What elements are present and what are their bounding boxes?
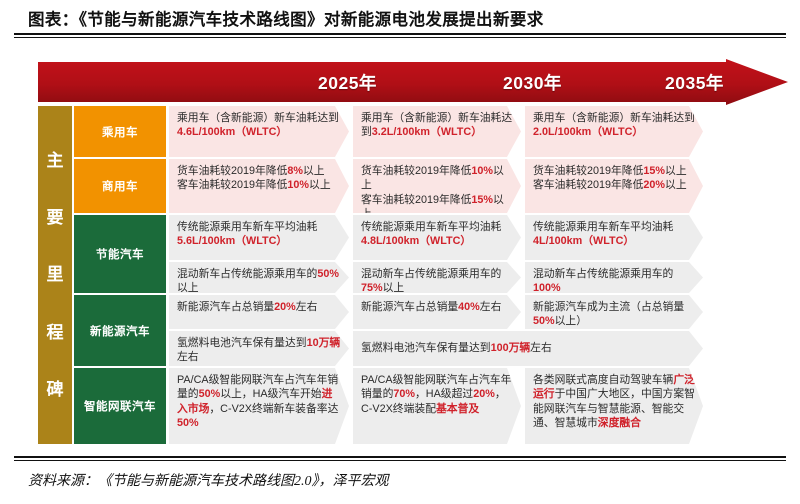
- category-passenger-vehicle: 乘用车: [74, 106, 166, 157]
- timeline-year-2035: 2035年: [665, 70, 724, 95]
- cell-2035-passenger-fuel: 乘用车（含新能源）新车油耗达到2.0L/100km（WLTC）: [525, 106, 703, 157]
- timeline: 2025年 2030年 2035年: [38, 59, 788, 105]
- content-grid: 乘用车（含新能源）新车油耗达到4.6L/100km（WLTC） 乘用车（含新能源…: [169, 106, 788, 444]
- cell-2035-hybrid-share: 混动新车占传统能源乘用车的100%: [525, 262, 703, 293]
- footer-divider-thin: [14, 460, 786, 461]
- cell-2035-icv: 各类网联式高度自动驾驶车辆广泛运行于中国广大地区，中国方案智能网联汽车与智慧能源…: [525, 368, 703, 444]
- vertical-label-char-2: 里: [47, 266, 64, 283]
- category-new-energy-vehicle: 新能源汽车: [74, 295, 166, 366]
- cell-2025-nev-share: 新能源汽车占总销量20%左右: [169, 295, 349, 329]
- category-commercial-vehicle: 商用车: [74, 159, 166, 213]
- category-column: 乘用车 商用车 节能汽车 新能源汽车 智能网联汽车: [74, 106, 166, 444]
- source-note: 资料来源：《节能与新能源汽车技术路线图2.0》，泽平宏观: [28, 470, 389, 490]
- cell-2030-nev-share: 新能源汽车占总销量40%左右: [353, 295, 521, 329]
- vertical-label-char-4: 碑: [47, 381, 64, 398]
- vertical-label-char-1: 要: [47, 209, 64, 226]
- vertical-label-char-0: 主: [47, 152, 64, 169]
- title-area: 图表：《节能与新能源汽车技术路线图》对新能源电池发展提出新要求: [0, 0, 800, 44]
- cell-2030-passenger-fuel: 乘用车（含新能源）新车油耗达到3.2L/100km（WLTC）: [353, 106, 521, 157]
- cell-2025-icv: PA/CA级智能网联汽车占汽车年销量的50%以上，HA级汽车开始进入市场，C-V…: [169, 368, 349, 444]
- cell-2030-hybrid-share: 混动新车占传统能源乘用车的75%以上: [353, 262, 521, 293]
- page-title: 图表：《节能与新能源汽车技术路线图》对新能源电池发展提出新要求: [28, 6, 544, 30]
- cell-2030-conventional-avg-fuel: 传统能源乘用车新车平均油耗4.8L/100km（WLTC）: [353, 215, 521, 260]
- title-divider-thin: [14, 37, 786, 38]
- cell-2025-commercial-fuel: 货车油耗较2019年降低8%以上客车油耗较2019年降低10%以上: [169, 159, 349, 213]
- timeline-year-2025: 2025年: [318, 70, 377, 95]
- cell-2035-conventional-avg-fuel: 传统能源乘用车新车平均油耗4L/100km（WLTC）: [525, 215, 703, 260]
- vertical-label-char-3: 程: [47, 324, 64, 341]
- footer-divider-thick: [14, 456, 786, 458]
- vertical-milestone-label: 主 要 里 程 碑: [38, 106, 72, 444]
- cell-2030-commercial-fuel: 货车油耗较2019年降低10%以上客车油耗较2019年降低15%以上: [353, 159, 521, 213]
- category-energy-saving-vehicle: 节能汽车: [74, 215, 166, 293]
- cell-2035-commercial-fuel: 货车油耗较2019年降低15%以上客车油耗较2019年降低20%以上: [525, 159, 703, 213]
- cell-2035-nev-share: 新能源汽车成为主流（占总销量50%以上）: [525, 295, 703, 329]
- timeline-year-2030: 2030年: [503, 70, 562, 95]
- cell-2030-2035-hydrogen-fleet: 氢燃料电池汽车保有量达到100万辆左右: [353, 331, 703, 366]
- cell-2025-conventional-avg-fuel: 传统能源乘用车新车平均油耗5.6L/100km（WLTC）: [169, 215, 349, 260]
- cell-2030-icv: PA/CA级智能网联汽车占汽车年销量的70%，HA级超过20%，C-V2X终端装…: [353, 368, 521, 444]
- title-divider-thick: [14, 33, 786, 35]
- cell-2025-hybrid-share: 混动新车占传统能源乘用车的50%以上: [169, 262, 349, 293]
- cell-2025-passenger-fuel: 乘用车（含新能源）新车油耗达到4.6L/100km（WLTC）: [169, 106, 349, 157]
- milestone-board: 主 要 里 程 碑 乘用车 商用车 节能汽车 新能源汽车 智能网联汽车 乘用车（…: [38, 106, 788, 444]
- cell-2025-hydrogen-fleet: 氢燃料电池汽车保有量达到10万辆左右: [169, 331, 349, 366]
- category-intelligent-connected-vehicle: 智能网联汽车: [74, 368, 166, 444]
